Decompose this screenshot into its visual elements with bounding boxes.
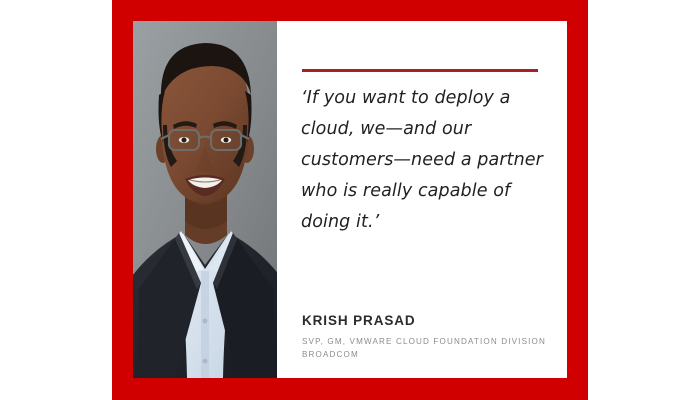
attribution-block: KRISH PRASAD SVP, GM, VMWARE CLOUD FOUND… — [302, 313, 552, 361]
quote-text: ‘If you want to deploy a cloud, we—and o… — [301, 83, 549, 238]
promo-quote-graphic: ‘If you want to deploy a cloud, we—and o… — [0, 0, 700, 400]
portrait-illustration — [133, 21, 277, 378]
portrait-photo — [133, 21, 277, 378]
attribution-name: KRISH PRASAD — [302, 313, 552, 329]
attribution-organization: BROADCOM — [302, 349, 552, 362]
accent-rule — [302, 69, 538, 72]
quote-card: ‘If you want to deploy a cloud, we—and o… — [277, 21, 567, 378]
attribution-role: SVP, GM, VMWARE CLOUD FOUNDATION DIVISIO… — [302, 336, 552, 349]
